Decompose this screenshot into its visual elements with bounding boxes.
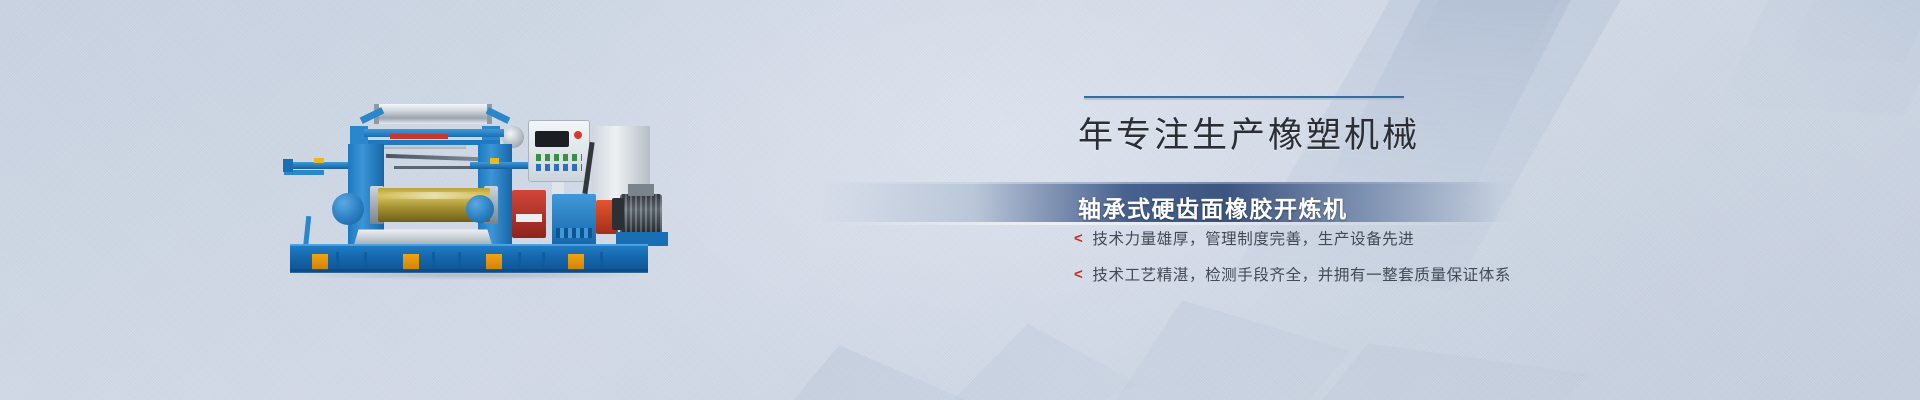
machine-gearbox bbox=[552, 194, 596, 246]
bullet-text: 技术力量雄厚，管理制度完善，生产设备先进 bbox=[1092, 227, 1414, 249]
promo-banner: 年专注生产橡塑机械 轴承式硬齿面橡胶开炼机 < 技术力量雄厚，管理制度完善，生产… bbox=[0, 0, 1920, 400]
machine-top-red-stripe bbox=[390, 134, 448, 139]
machine-base-rib bbox=[458, 252, 461, 270]
machine-top-roll bbox=[374, 104, 492, 124]
machine-red-housing-plate bbox=[516, 214, 542, 222]
decorative-ribbon-shape bbox=[1404, 0, 1627, 74]
machine-foot-pad bbox=[312, 254, 328, 270]
machine-adjuster-rail-right bbox=[470, 162, 532, 169]
machine-motor-fins bbox=[620, 194, 662, 234]
chevron-left-icon: < bbox=[1074, 231, 1083, 246]
machine-control-display bbox=[535, 131, 569, 147]
machine-foot-pad bbox=[486, 254, 502, 270]
machine-base-rib bbox=[432, 252, 435, 270]
machine-motor-fan-cover bbox=[612, 198, 624, 230]
machine-adjuster-knob-right bbox=[490, 158, 499, 164]
list-item: < 技术力量雄厚，管理制度完善，生产设备先进 bbox=[1074, 227, 1760, 249]
feature-bullet-list: < 技术力量雄厚，管理制度完善，生产设备先进 < 技术工艺精湛，检测手段齐全，并… bbox=[1074, 227, 1760, 285]
headline-divider-rule bbox=[1084, 96, 1404, 100]
decorative-polygon-shape bbox=[940, 318, 1140, 400]
machine-bearing-housing-right bbox=[466, 195, 494, 223]
machine-gearbox-vents bbox=[556, 228, 592, 238]
machine-base-rib bbox=[518, 252, 521, 270]
decorative-polygon-shape bbox=[1290, 330, 1590, 400]
subtitle-banner-bar: 轴承式硬齿面橡胶开炼机 bbox=[820, 182, 1520, 222]
machine-base-rib bbox=[364, 252, 367, 270]
product-photo-rubber-mixing-mill bbox=[290, 96, 672, 276]
machine-warning-marker bbox=[314, 158, 324, 163]
machine-bearing-housing-left bbox=[332, 193, 364, 225]
chevron-left-icon: < bbox=[1074, 267, 1083, 282]
banner-subtitle: 轴承式硬齿面橡胶开炼机 bbox=[1078, 190, 1348, 224]
bullet-text: 技术工艺精湛，检测手段齐全，并拥有一整套质量保证体系 bbox=[1092, 263, 1511, 285]
machine-control-panel bbox=[528, 120, 590, 182]
machine-foot-pad bbox=[568, 254, 584, 270]
machine-control-button-row-top bbox=[536, 154, 582, 161]
banner-copy-block: 年专注生产橡塑机械 轴承式硬齿面橡胶开炼机 < 技术力量雄厚，管理制度完善，生产… bbox=[1060, 96, 1760, 299]
list-item: < 技术工艺精湛，检测手段齐全，并拥有一整套质量保证体系 bbox=[1074, 263, 1760, 285]
machine-base-rib bbox=[600, 252, 603, 270]
machine-adjuster-rail-left bbox=[286, 162, 348, 169]
machine-emergency-stop-icon bbox=[574, 131, 582, 139]
decorative-ribbon-shape bbox=[1787, 0, 1920, 63]
machine-base-shadow-edge bbox=[290, 269, 648, 273]
machine-motor-junction-box bbox=[628, 184, 654, 196]
banner-headline: 年专注生产橡塑机械 bbox=[1078, 118, 1760, 153]
machine-adjuster-knob-left bbox=[283, 159, 293, 172]
machine-base-rib bbox=[542, 252, 545, 270]
decorative-polygon-shape bbox=[1110, 300, 1350, 400]
machine-control-button-row-bottom bbox=[536, 164, 582, 171]
machine-foot-pad bbox=[403, 254, 419, 270]
decorative-polygon-shape bbox=[740, 345, 1000, 400]
machine-base-rib bbox=[336, 252, 339, 270]
